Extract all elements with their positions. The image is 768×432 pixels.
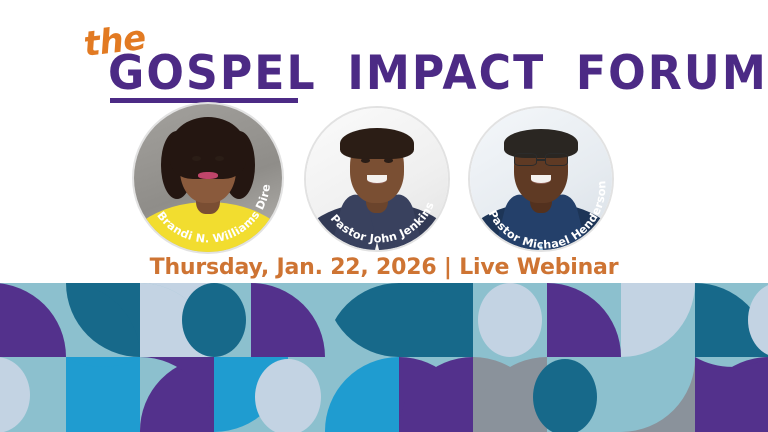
title-word-forum: FORUM (576, 50, 768, 97)
title-block: the GOSPEL IMPACT FORUM (0, 14, 768, 96)
speaker-portrait-pastor-john-jenkins: Pastor John Jenkins (306, 108, 448, 250)
portrait-ring: Brandi N. Williams Director (134, 104, 282, 252)
portrait-ring: Pastor John Jenkins (306, 108, 448, 250)
page-title: GOSPEL IMPACT FORUM (108, 50, 768, 97)
promo-graphic: the GOSPEL IMPACT FORUM (0, 0, 768, 432)
gospel-underline (110, 98, 298, 103)
speaker-portrait-brandi-n-williams: Brandi N. Williams Director (134, 104, 282, 252)
portrait-artwork (470, 108, 612, 250)
event-date-line: Thursday, Jan. 22, 2026 | Live Webinar (0, 255, 768, 280)
portrait-artwork (306, 108, 448, 250)
title-word-impact: IMPACT (347, 50, 545, 97)
geometric-pattern-band (0, 283, 768, 432)
portrait-ring: Pastor Michael Henderson (470, 108, 612, 250)
speaker-portraits: Brandi N. Williams Director (0, 104, 768, 256)
portrait-artwork (134, 104, 282, 252)
speaker-portrait-pastor-michael-henderson: Pastor Michael Henderson (470, 108, 612, 250)
title-word-gospel: GOSPEL (108, 50, 317, 97)
glasses-icon (514, 153, 568, 166)
pattern-svg (0, 283, 768, 432)
